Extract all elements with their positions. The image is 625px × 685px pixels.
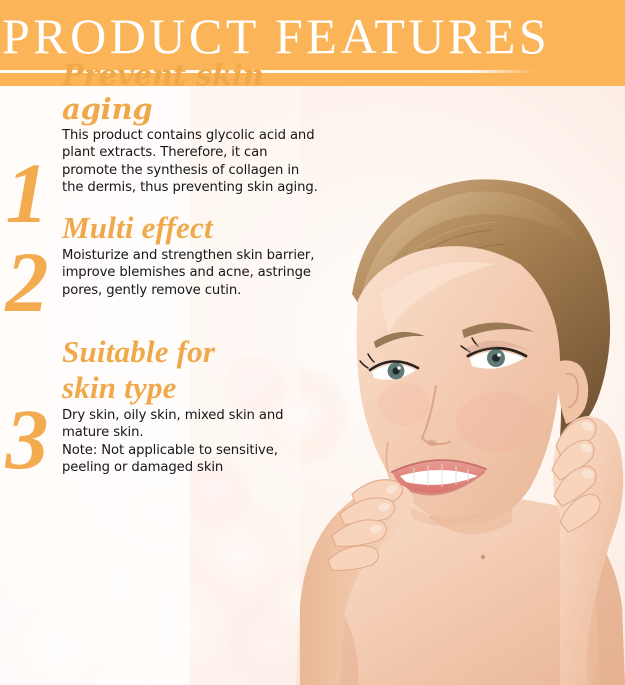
feature-body-3: Suitable for skin type Dry skin, oily sk… xyxy=(62,334,324,477)
feature-body-2: Multi effect Moisturize and strengthen s… xyxy=(62,210,324,299)
feature-text-3: Dry skin, oily skin, mixed skin and matu… xyxy=(62,407,324,477)
page-title: PRODUCT FEATURES xyxy=(2,8,602,64)
feature-heading-2: Multi effect xyxy=(62,210,324,246)
feature-number-1: 1 xyxy=(0,150,58,236)
feature-number-2: 2 xyxy=(0,239,58,325)
feature-heading-3: Suitable for skin type xyxy=(62,334,324,406)
feature-heading-1: Prevent skin aging xyxy=(62,58,324,126)
feature-number-3: 3 xyxy=(0,396,58,482)
feature-text-2: Moisturize and strengthen skin barrier, … xyxy=(62,247,324,299)
feature-body-1: Prevent skin aging This product contains… xyxy=(62,58,324,197)
feature-text-1: This product contains glycolic acid and … xyxy=(62,127,324,197)
product-features-infographic: PRODUCT FEATURES xyxy=(0,0,625,685)
